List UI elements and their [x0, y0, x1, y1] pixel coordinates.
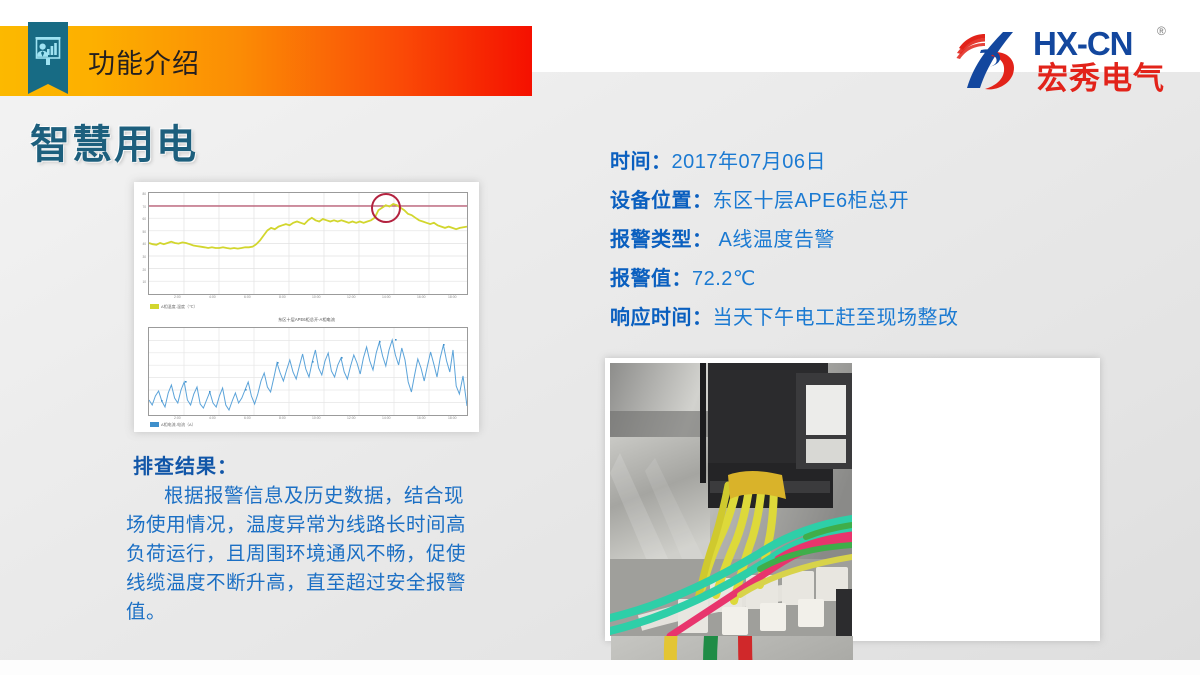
info-label-time: 时间：	[610, 151, 672, 173]
badge-ribbon-tail	[28, 84, 68, 94]
result-body: 根据报警信息及历史数据，结合现场使用情况，温度异常为线路长时间高负荷运行，且周围…	[126, 482, 474, 627]
info-label-alarm-value: 报警值：	[610, 268, 692, 290]
info-row-alarm-type: 报警类型： A线温度告警	[610, 226, 1130, 254]
alarm-highlight-circle	[372, 194, 400, 222]
info-label-location: 设备位置：	[610, 190, 713, 212]
monitoring-chart-card: 807060 504030 2010 2:004:00 6:008:00 10:…	[134, 182, 479, 432]
page-title: 智慧用电	[30, 112, 198, 170]
current-chart-svg	[149, 328, 467, 415]
info-label-alarm-type: 报警类型：	[610, 229, 713, 251]
temp-y-ticks: 807060 504030 2010	[134, 192, 146, 293]
info-row-alarm-value: 报警值：72.2℃	[610, 265, 1130, 293]
cabinet-cable-photo	[610, 363, 852, 636]
info-value-response-time: 当天下午电工赶至现场整改	[713, 307, 959, 329]
current-chart-subtitle: 东区十层APE6柜总开-A相电流	[134, 317, 479, 323]
company-logo: HX-CN ® 宏秀电气	[955, 22, 1185, 104]
cabinet-cable-photo-svg	[610, 363, 852, 636]
temperature-chart-legend: A相温度-温度（℃）	[150, 304, 198, 310]
bottom-white-strip	[0, 660, 1200, 675]
registered-mark: ®	[1157, 24, 1166, 38]
slide-root: 功能介绍 智慧用电 HX-CN ® 宏秀电气	[0, 0, 1200, 675]
info-label-response-time: 响应时间：	[610, 307, 713, 329]
section-banner-label: 功能介绍	[88, 44, 488, 84]
info-row-response-time: 响应时间：当天下午电工赶至现场整改	[610, 304, 1130, 332]
current-legend-swatch	[150, 422, 159, 427]
info-row-time: 时间：2017年07月06日	[610, 148, 1130, 176]
logo-brand-en: HX-CN	[1033, 26, 1133, 62]
info-value-time: 2017年07月06日	[672, 151, 826, 173]
info-value-alarm-value: 72.2℃	[692, 268, 756, 290]
current-chart-plot	[148, 327, 468, 416]
hx-cn-swoosh-logo-icon	[955, 26, 1027, 96]
presentation-chart-person-icon	[34, 34, 62, 68]
logo-brand-cn: 宏秀电气	[1037, 62, 1165, 96]
info-value-alarm-type: A线温度告警	[713, 229, 835, 251]
photo-gallery	[605, 358, 1100, 641]
current-chart-legend: A相电流-电流（A）	[150, 422, 196, 428]
section-badge	[28, 22, 68, 94]
info-row-location: 设备位置：东区十层APE6柜总开	[610, 187, 1130, 215]
temp-legend-swatch	[150, 304, 159, 309]
temperature-chart-svg	[149, 193, 467, 294]
result-heading: 排查结果：	[133, 450, 238, 479]
alarm-info-list: 时间：2017年07月06日 设备位置：东区十层APE6柜总开 报警类型： A线…	[610, 148, 1130, 343]
temperature-chart-plot	[148, 192, 468, 295]
info-value-location: 东区十层APE6柜总开	[713, 190, 910, 212]
